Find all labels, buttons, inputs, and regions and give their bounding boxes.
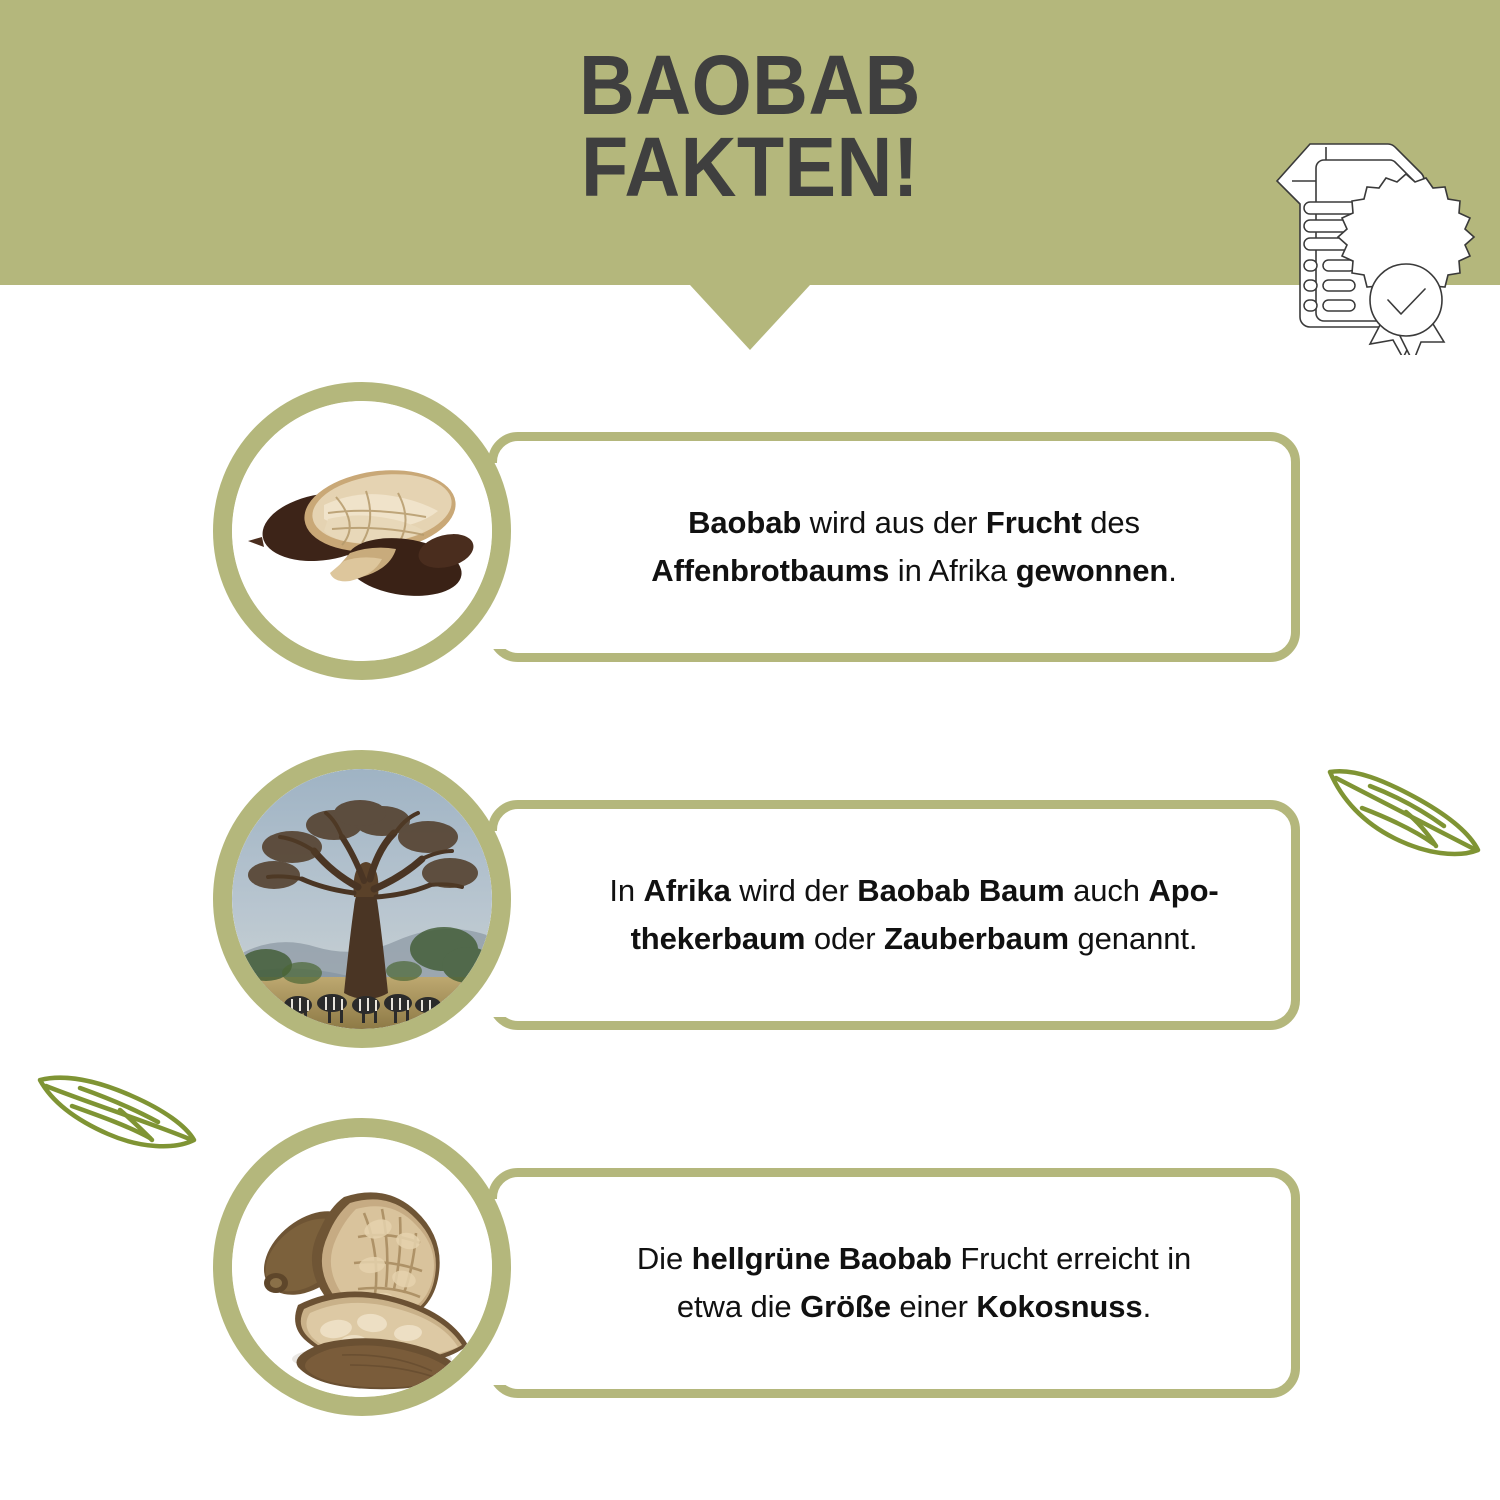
- fact-text-segment: Größe: [800, 1289, 891, 1324]
- fact-row: Die hellgrüne Baobab Frucht erreicht in …: [0, 1118, 1500, 1418]
- fact-text: In Afrika wird der Baobab Baum auch Apo-…: [584, 867, 1244, 963]
- fact-text-segment: auch: [1065, 873, 1149, 908]
- fact-text-segment: wird aus der: [801, 505, 986, 540]
- fact-text-segment: Afrika: [644, 873, 731, 908]
- fact-text-segment: des: [1082, 505, 1140, 540]
- page-title-line-2: FAKTEN!: [60, 126, 1440, 208]
- fact-text-segment: Die: [637, 1241, 692, 1276]
- fact-text-segment: gewonnen: [1016, 553, 1168, 588]
- fact-card: Baobab wird aus der Frucht des Affenbrot…: [488, 432, 1300, 662]
- fact-image-circle: [213, 382, 511, 680]
- certificate-document-icon: [1262, 110, 1477, 355]
- baobab-fruit-cracked-photo: [232, 1137, 492, 1397]
- fact-text-segment: .: [1168, 553, 1177, 588]
- fact-text-segment: Apo-: [1148, 873, 1218, 908]
- fact-text-segment: in Afrika: [889, 553, 1015, 588]
- fact-text-segment: In: [609, 873, 643, 908]
- fact-text-segment: einer: [891, 1289, 976, 1324]
- page-title-line-1: BAOBAB: [60, 44, 1440, 126]
- fact-card: In Afrika wird der Baobab Baum auch Apo-…: [488, 800, 1300, 1030]
- fact-row: In Afrika wird der Baobab Baum auch Apo-…: [0, 750, 1500, 1050]
- fact-card: Die hellgrüne Baobab Frucht erreicht in …: [488, 1168, 1300, 1398]
- fact-text-segment: .: [1143, 1289, 1152, 1324]
- fact-text-segment: Affenbrotbaums: [651, 553, 889, 588]
- fact-text-segment: Frucht erreicht in: [952, 1241, 1191, 1276]
- fact-row: Baobab wird aus der Frucht des Affenbrot…: [0, 382, 1500, 682]
- fact-text-segment: Baobab: [688, 505, 801, 540]
- fact-image-circle: [213, 750, 511, 1048]
- baobab-tree-savanna-photo: [232, 769, 492, 1029]
- fact-text: Baobab wird aus der Frucht des Affenbrot…: [584, 499, 1244, 595]
- fact-text-segment: Kokosnuss: [976, 1289, 1142, 1324]
- fact-text-segment: hellgrüne Baobab: [692, 1241, 952, 1276]
- fact-text-segment: wird der: [731, 873, 857, 908]
- fact-text-segment: Zauberbaum: [884, 921, 1069, 956]
- fact-text-segment: Frucht: [986, 505, 1082, 540]
- baobab-fruit-pod-open-photo: [232, 401, 492, 661]
- page-title: BAOBAB FAKTEN!: [60, 44, 1440, 209]
- fact-text-segment: oder: [805, 921, 884, 956]
- fact-image-circle: [213, 1118, 511, 1416]
- fact-text-segment: thekerbaum: [631, 921, 806, 956]
- fact-text-segment: genannt.: [1069, 921, 1197, 956]
- fact-text-segment: Baobab Baum: [857, 873, 1064, 908]
- header-speech-tail: [690, 285, 810, 350]
- fact-text-segment: etwa die: [677, 1289, 800, 1324]
- fact-text: Die hellgrüne Baobab Frucht erreicht in …: [584, 1235, 1244, 1331]
